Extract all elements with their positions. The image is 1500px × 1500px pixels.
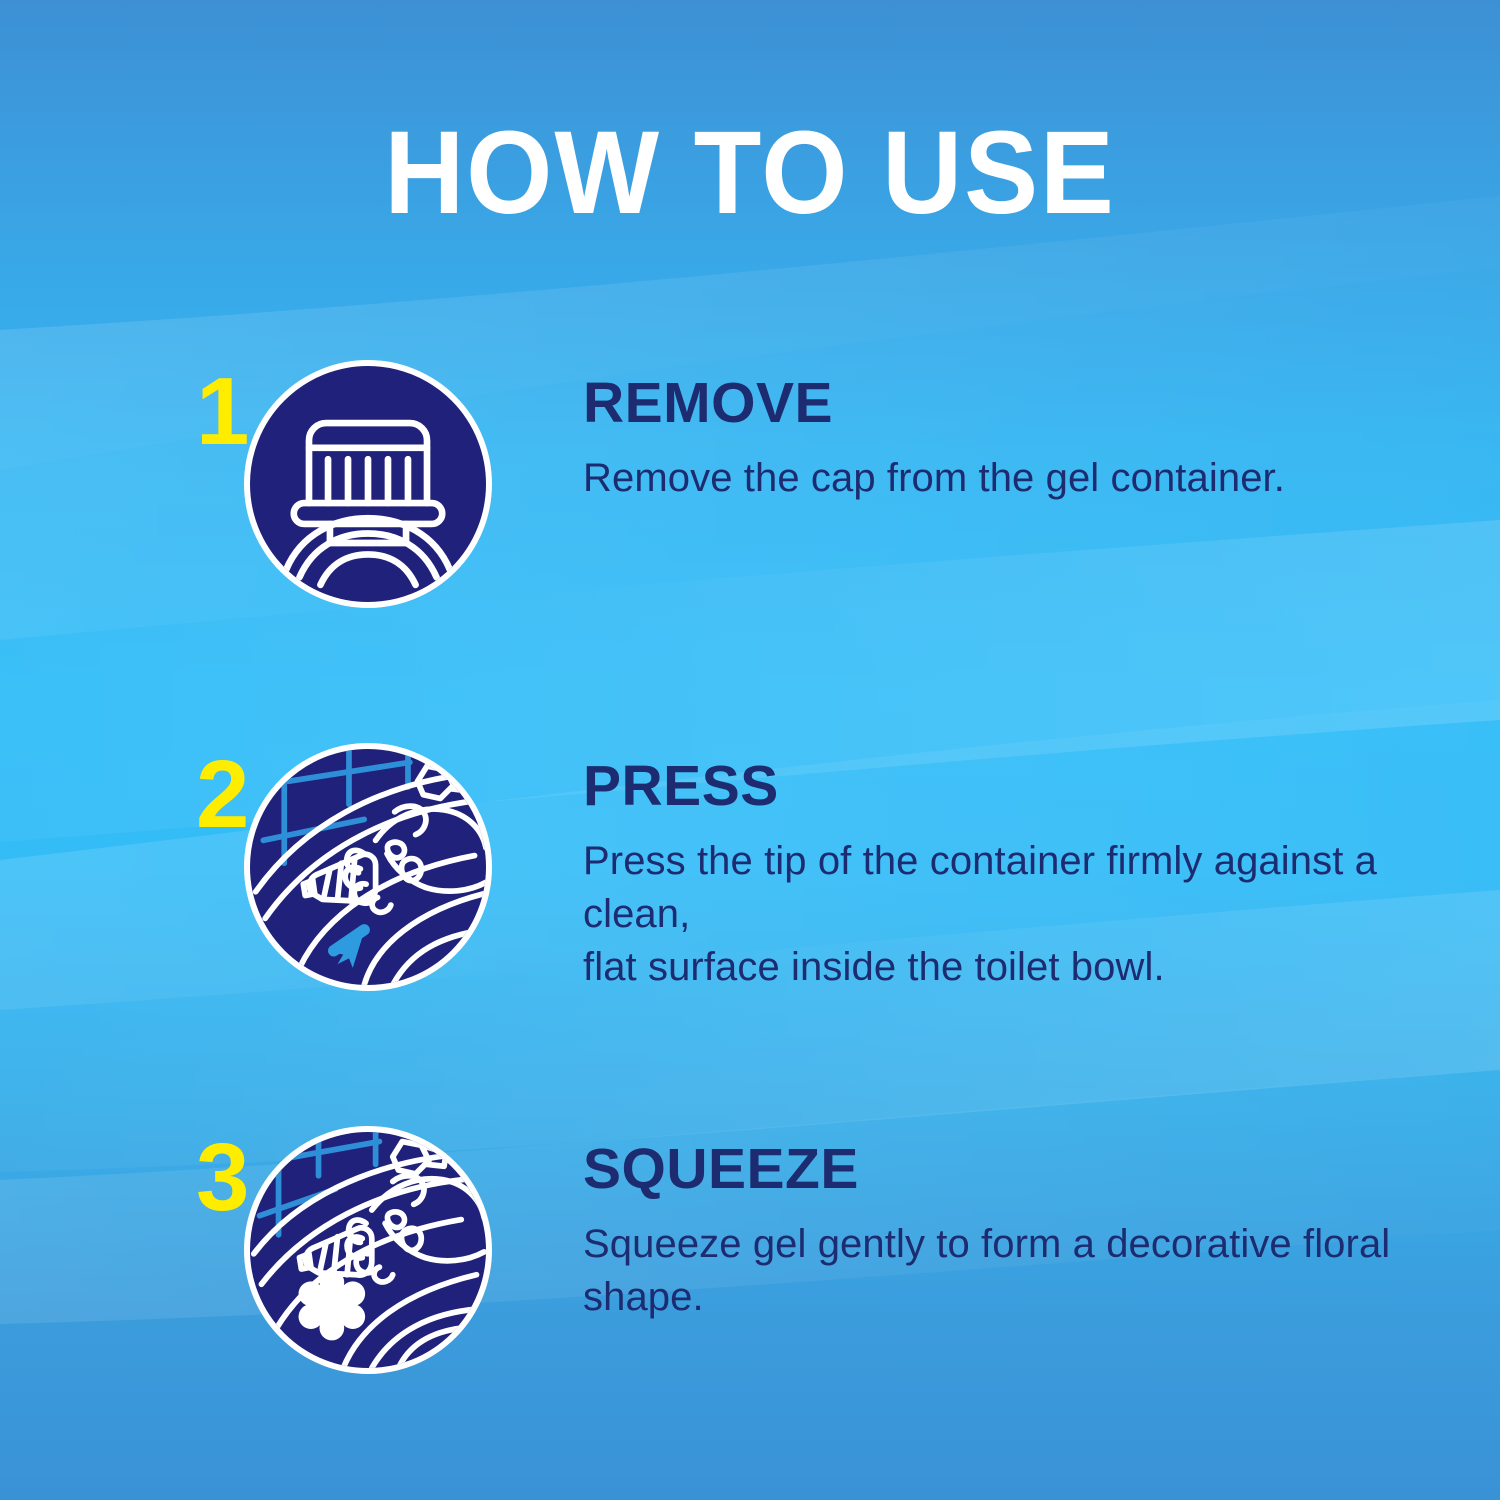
step-text-1: REMOVE Remove the cap from the gel conta… [583, 372, 1443, 505]
step-text-3: SQUEEZE Squeeze gel gently to form a dec… [583, 1138, 1443, 1324]
step-icon-badge-1 [244, 360, 492, 608]
step-item: 1 [0, 342, 1500, 622]
step-heading: SQUEEZE [583, 1138, 1443, 1200]
gel-container-cap-icon [250, 366, 486, 602]
step-number-label: 1 [196, 364, 247, 460]
infographic-canvas: HOW TO USE 1 [0, 0, 1500, 1500]
step-item: 2 [0, 725, 1500, 1005]
floral-gel-icon [299, 1270, 366, 1340]
step-heading: PRESS [583, 755, 1443, 817]
hand-squeezing-floral-gel-icon [250, 1132, 486, 1368]
step-icon-badge-3 [244, 1126, 492, 1374]
step-heading: REMOVE [583, 372, 1443, 434]
step-description: Remove the cap from the gel container. [583, 452, 1443, 505]
step-text-2: PRESS Press the tip of the container fir… [583, 755, 1443, 994]
step-description: Press the tip of the container firmly ag… [583, 835, 1443, 994]
step-item: 3 [0, 1108, 1500, 1388]
step-description: Squeeze gel gently to form a decorative … [583, 1218, 1443, 1324]
direction-arrow-icon [332, 930, 364, 968]
step-number-label: 2 [196, 747, 247, 843]
step-icon-badge-2 [244, 743, 492, 991]
page-title: HOW TO USE [45, 112, 1455, 236]
hand-pressing-dispenser-icon [250, 749, 486, 985]
step-number-label: 3 [196, 1130, 247, 1226]
